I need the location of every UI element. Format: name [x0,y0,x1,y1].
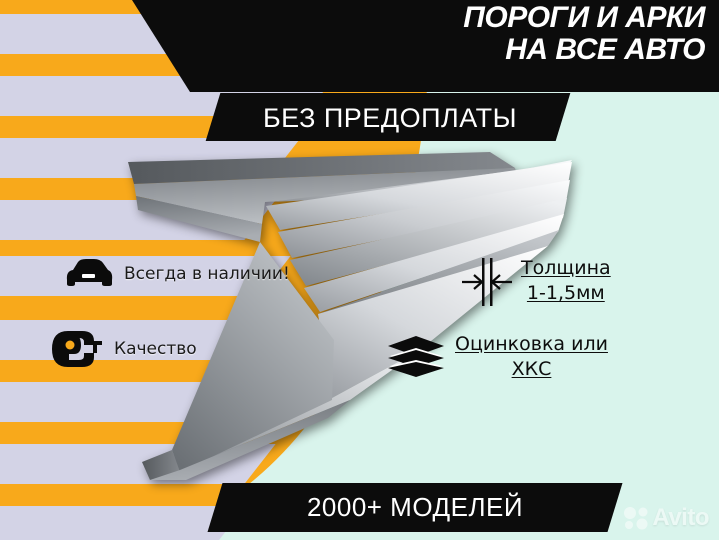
feature-thickness-text: Толщина 1-1,5мм [521,256,611,306]
rst-certification-icon [48,325,104,373]
headline-line-1: ПОРОГИ И АРКИ [463,1,705,34]
feature-in-stock-label: Всегда в наличии! [124,264,290,284]
feature-thickness-line-2: 1-1,5мм [521,281,611,306]
avito-wordmark: Avito [652,504,709,532]
footer-text: 2000+ МОДЕЛЕЙ [215,485,615,530]
headline-line-2: НА ВСЕ АВТО [285,34,705,66]
advertisement-banner: ПОРОГИ И АРКИ НА ВСЕ АВТО БЕЗ ПРЕДОПЛАТЫ [0,0,719,540]
page-title: ПОРОГИ И АРКИ НА ВСЕ АВТО [285,2,705,65]
feature-coating-line-2: ХКС [455,357,608,382]
feature-coating: Оцинковка или ХКС [388,332,608,382]
metal-layers-icon [388,334,446,380]
avito-watermark: Avito [623,504,709,532]
feature-thickness: Толщина 1-1,5мм [462,256,611,308]
feature-thickness-line-1: Толщина [521,256,611,281]
feature-in-stock: Всегда в наличии! [62,257,290,291]
feature-coating-text: Оцинковка или ХКС [455,332,608,382]
feature-coating-line-1: Оцинковка или [455,332,608,357]
car-icon [62,257,114,291]
metal-sill-product-image [120,150,580,480]
thickness-dimension-icon [462,256,512,308]
feature-quality: Качество [48,325,197,373]
feature-quality-label: Качество [114,339,197,359]
subheadline-text: БЕЗ ПРЕДОПЛАТЫ [205,96,575,140]
avito-logo-icon [623,506,649,530]
